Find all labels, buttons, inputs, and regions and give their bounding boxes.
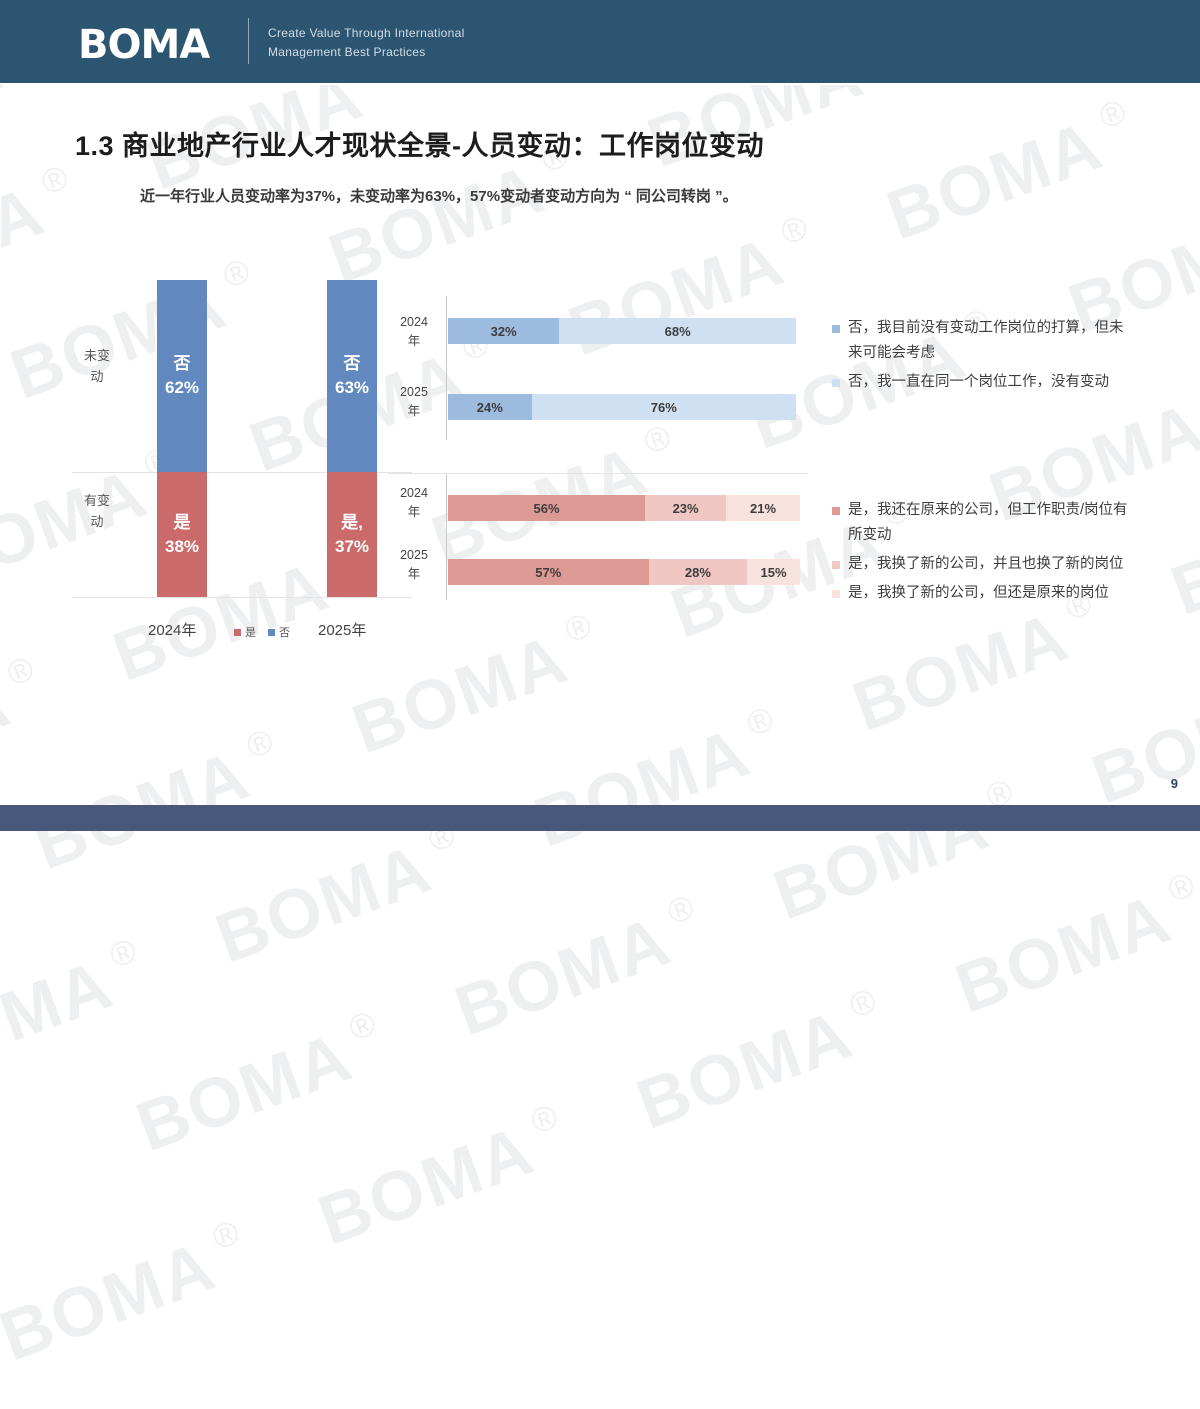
top-bar-2025-seg-2: 76%: [532, 394, 796, 420]
column-segment-2025-no-label: 否: [344, 352, 361, 376]
column-segment-2024-no-label: 否: [174, 352, 191, 376]
bottom-bar-2025-seg-2: 28%: [649, 559, 748, 585]
bottom-bar-2025-seg-1: 57%: [448, 559, 649, 585]
column-xlabel-2025: 2025年: [318, 619, 366, 640]
watermark-text: BOMA®: [0, 1213, 260, 1377]
legend-item-yes-3[interactable]: 是，我换了新的公司，但还是原来的岗位: [832, 581, 1132, 606]
column-gridline-base: [72, 597, 412, 598]
bottom-bar-axis-line: [446, 474, 447, 600]
column-segment-2025-yes-label: 是,: [341, 511, 363, 535]
legend-text-yes-3: 是，我换了新的公司，但还是原来的岗位: [848, 585, 1109, 601]
page-number: 9: [1171, 776, 1178, 791]
bottom-bar-ylabel-2025-year: 2025: [392, 546, 436, 565]
watermark-text: BOMA®: [627, 981, 898, 1145]
legend-bullet-yes-1-icon: [832, 507, 840, 515]
bottom-bar-2024-seg-3: 21%: [726, 495, 800, 521]
legend-item-yes-2[interactable]: 是，我换了新的公司，并且也换了新的岗位: [832, 552, 1132, 577]
legend-text-yes-2: 是，我换了新的公司，并且也换了新的岗位: [848, 556, 1124, 572]
column-segment-2025-yes: 是, 37%: [327, 472, 377, 597]
column-segment-2025-no: 否 63%: [327, 280, 377, 472]
top-bar-2024-seg-1: 32%: [448, 318, 559, 344]
bottom-bar-row-2024[interactable]: 56% 23% 21%: [448, 495, 800, 521]
legend-label-yes: 是: [245, 624, 256, 640]
bottom-bar-ylabel-2024: 2024 年: [392, 484, 436, 522]
legend-bullet-yes-3-icon: [832, 590, 840, 598]
bottom-bar-2024-seg-2: 23%: [645, 495, 726, 521]
top-bar-ylabel-2025-suffix: 年: [392, 402, 436, 421]
legend-item-no-2[interactable]: 否，我一直在同一个岗位工作，没有变动: [832, 370, 1132, 395]
watermark-text: BOMA®: [0, 931, 158, 1095]
bottom-bar-top-rule: [388, 473, 808, 474]
legend-bullet-no-2-icon: [832, 379, 840, 387]
watermark-text: BOMA®: [308, 1097, 579, 1261]
legend-text-yes-1: 是，我还在原来的公司，但工作职责/岗位有所变动: [848, 502, 1128, 543]
bottom-bar-2024-seg-1: 56%: [448, 495, 645, 521]
watermark-text: BOMA®: [126, 1003, 397, 1167]
column-category-label-changed: 有变动: [84, 490, 110, 532]
legend-changed: 是，我还在原来的公司，但工作职责/岗位有所变动 是，我换了新的公司，并且也换了新…: [832, 498, 1132, 610]
legend-bullet-yes-2-icon: [832, 561, 840, 569]
bottom-bar-ylabel-2025-suffix: 年: [392, 565, 436, 584]
chart-area: 未变动 有变动 否 62% 是 38% 否 63% 是, 37% 2024年 2…: [0, 0, 1200, 831]
bottom-bar-ylabel-2024-suffix: 年: [392, 503, 436, 522]
bottom-bar-ylabel-2024-year: 2024: [392, 484, 436, 503]
legend-text-no-2: 否，我一直在同一个岗位工作，没有变动: [848, 374, 1109, 390]
column-segment-2024-yes-label: 是: [174, 511, 191, 535]
legend-bullet-no-1-icon: [832, 325, 840, 333]
top-bar-2025-seg-1: 24%: [448, 394, 532, 420]
top-bar-ylabel-2024: 2024 年: [392, 313, 436, 351]
legend-no-change: 否，我目前没有变动工作岗位的打算，但未来可能会考虑 否，我一直在同一个岗位工作，…: [832, 316, 1132, 399]
legend-item-yes-1[interactable]: 是，我还在原来的公司，但工作职责/岗位有所变动: [832, 498, 1132, 548]
column-chart-legend: 是 否: [234, 624, 298, 640]
legend-item-no-1[interactable]: 否，我目前没有变动工作岗位的打算，但未来可能会考虑: [832, 316, 1132, 366]
column-bar-2024[interactable]: 否 62% 是 38%: [157, 280, 207, 597]
legend-swatch-yes-icon: [234, 629, 241, 636]
watermark-text: BOMA®: [206, 815, 477, 979]
top-bar-ylabel-2025-year: 2025: [392, 383, 436, 402]
legend-text-no-1: 否，我目前没有变动工作岗位的打算，但未来可能会考虑: [848, 320, 1124, 361]
top-bar-ylabel-2024-year: 2024: [392, 313, 436, 332]
top-bar-ylabel-2025: 2025 年: [392, 383, 436, 421]
top-bar-axis-line: [446, 296, 447, 440]
top-bar-row-2025[interactable]: 24% 76%: [448, 394, 796, 420]
legend-label-no: 否: [279, 624, 290, 640]
watermark-text: BOMA®: [445, 887, 716, 1051]
column-category-label-no-change: 未变动: [84, 345, 110, 387]
bottom-bar-ylabel-2025: 2025 年: [392, 546, 436, 584]
column-segment-2024-yes: 是 38%: [157, 472, 207, 597]
column-segment-2024-yes-value: 38%: [165, 535, 199, 559]
column-segment-2024-no-value: 62%: [165, 376, 199, 400]
top-bar-ylabel-2024-suffix: 年: [392, 332, 436, 351]
column-segment-2025-no-value: 63%: [335, 376, 369, 400]
legend-swatch-no-icon: [268, 629, 275, 636]
column-bar-2025[interactable]: 否 63% 是, 37%: [327, 280, 377, 597]
top-bar-row-2024[interactable]: 32% 68%: [448, 318, 796, 344]
top-bar-2024-seg-2: 68%: [559, 318, 796, 344]
bottom-bar-2025-seg-3: 15%: [747, 559, 800, 585]
column-segment-2025-yes-value: 37%: [335, 535, 369, 559]
watermark-text: BOMA®: [945, 865, 1200, 1029]
bottom-bar-row-2025[interactable]: 57% 28% 15%: [448, 559, 800, 585]
column-segment-2024-no: 否 62%: [157, 280, 207, 472]
column-xlabel-2024: 2024年: [148, 619, 196, 640]
